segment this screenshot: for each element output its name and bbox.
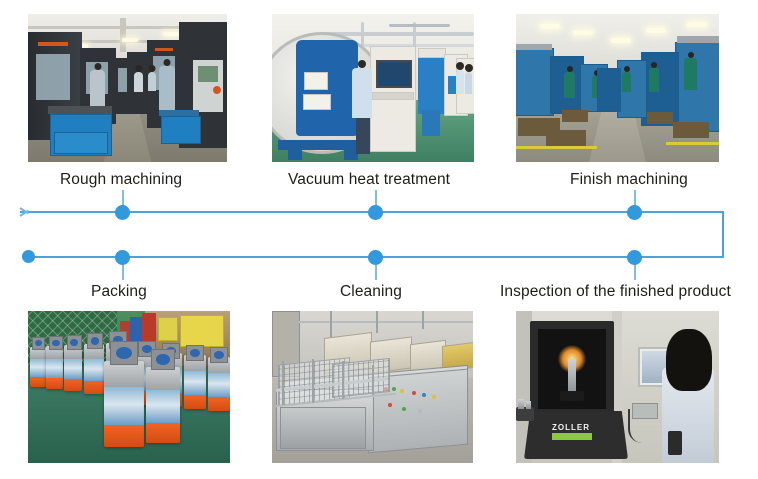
scene-grinding-line	[516, 14, 719, 162]
timeline-node-inspection[interactable]	[627, 250, 642, 265]
process-flow-infographic: Rough machining Vacuum heat treatment Fi…	[0, 0, 758, 479]
scene-cnc-workshop	[28, 14, 227, 162]
timeline-wrap-connector	[722, 211, 724, 258]
caption-vacuum-heat-treatment: Vacuum heat treatment	[288, 171, 450, 189]
tin-foreground	[104, 361, 144, 447]
timeline-node-start[interactable]	[22, 250, 35, 263]
caption-rough-machining: Rough machining	[60, 171, 182, 189]
photo-cleaning[interactable]	[272, 311, 473, 463]
timeline-node-finish-machining[interactable]	[627, 205, 642, 220]
timeline-start-arrow-icon	[20, 206, 30, 218]
timeline-node-rough-machining[interactable]	[115, 205, 130, 220]
caption-finish-machining: Finish machining	[570, 171, 688, 189]
operator-hair	[666, 329, 712, 391]
timeline-node-vacuum-heat-treatment[interactable]	[368, 205, 383, 220]
scene-vacuum-furnace	[272, 14, 474, 162]
timeline-node-packing[interactable]	[115, 250, 130, 265]
zoller-brand-label: ZOLLER	[552, 423, 590, 432]
scene-ultrasonic-cleaning-line	[272, 311, 473, 463]
brand-accent-bar	[552, 433, 592, 440]
photo-finish-machining[interactable]	[516, 14, 719, 162]
measured-tool	[568, 359, 576, 393]
scene-packing-tins	[28, 311, 230, 463]
photo-rough-machining[interactable]	[28, 14, 227, 162]
caption-cleaning: Cleaning	[340, 283, 402, 301]
photo-vacuum-heat-treatment[interactable]	[272, 14, 474, 162]
timeline-node-cleaning[interactable]	[368, 250, 383, 265]
scene-zoller-presetter: ZOLLER	[516, 311, 719, 463]
photo-inspection[interactable]: ZOLLER	[516, 311, 719, 463]
caption-inspection: Inspection of the finished product	[500, 283, 731, 301]
photo-packing[interactable]	[28, 311, 230, 463]
caption-packing: Packing	[91, 283, 147, 301]
